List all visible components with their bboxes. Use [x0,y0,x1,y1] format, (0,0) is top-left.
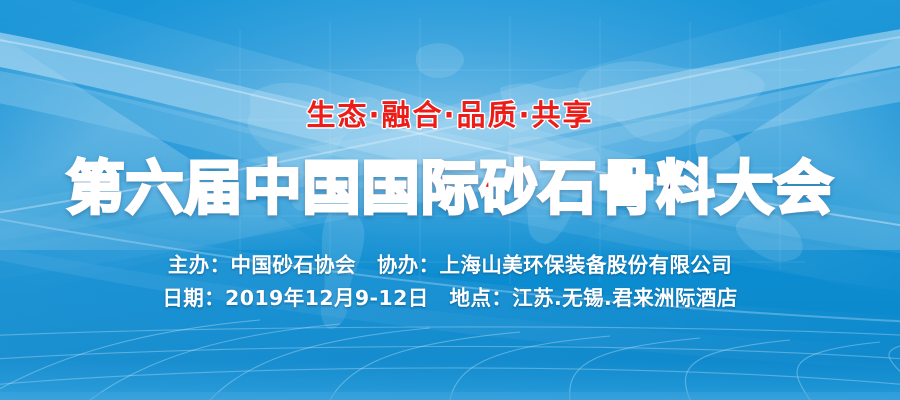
organizer-line: 主办：中国砂石协会 协办：上海山美环保装备股份有限公司 [162,249,737,282]
page-title: 第六届中国国际砂石骨料大会 [66,158,833,219]
tagline: 生态·融合·品质·共享 [306,92,593,134]
date-venue-line: 日期：2019年12月9-12日 地点：江苏.无锡.君来洲际酒店 [162,282,737,315]
conference-banner: 生态·融合·品质·共享 第六届中国国际砂石骨料大会 主办：中国砂石协会 协办：上… [0,0,900,400]
event-info: 主办：中国砂石协会 协办：上海山美环保装备股份有限公司 日期：2019年12月9… [162,249,737,315]
banner-content: 生态·融合·品质·共享 第六届中国国际砂石骨料大会 主办：中国砂石协会 协办：上… [0,0,900,400]
